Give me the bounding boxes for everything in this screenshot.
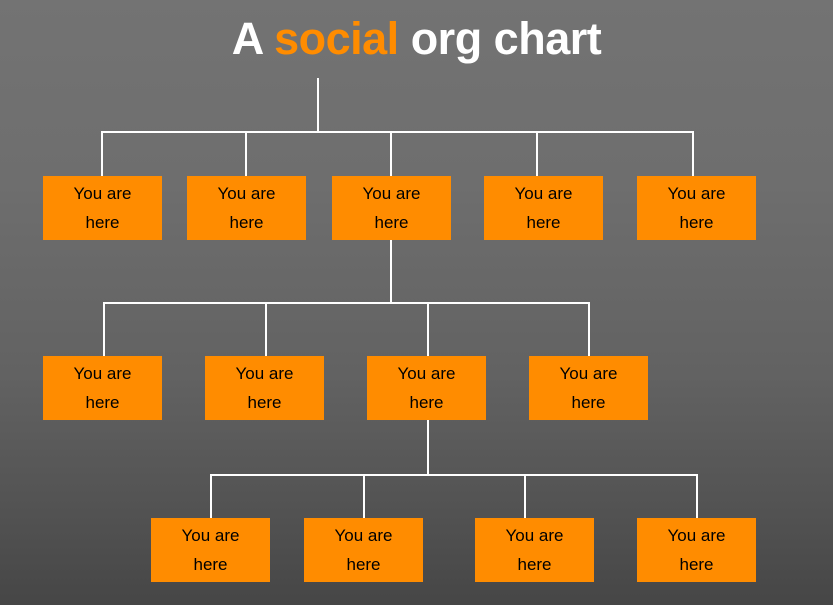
org-node[interactable]: You are here [475, 518, 594, 582]
org-node-label: You are here [151, 521, 270, 579]
org-node-label: You are here [637, 521, 756, 579]
title-part-2: org chart [399, 13, 602, 64]
connector-drop-row2-3 [427, 302, 429, 357]
org-node[interactable]: You are here [484, 176, 603, 240]
connector-stem-row1-to-row2 [390, 240, 392, 303]
connector-bar-row2 [103, 302, 588, 304]
org-node-label: You are here [205, 359, 324, 417]
title-accent-word: social [274, 13, 399, 64]
connector-drop-row1-1 [101, 131, 103, 177]
connector-drop-row1-3 [390, 131, 392, 177]
org-node[interactable]: You are here [187, 176, 306, 240]
connector-drop-row3-4 [696, 474, 698, 519]
org-node-label: You are here [43, 179, 162, 237]
org-node-label: You are here [475, 521, 594, 579]
connector-drop-row2-1 [103, 302, 105, 357]
connector-drop-row2-4 [588, 302, 590, 357]
connector-title-stem [317, 78, 319, 132]
page-title: A social org chart [0, 10, 833, 68]
org-node[interactable]: You are here [151, 518, 270, 582]
org-node[interactable]: You are here [304, 518, 423, 582]
org-node-label: You are here [43, 359, 162, 417]
connector-drop-row1-4 [536, 131, 538, 177]
org-node[interactable]: You are here [43, 356, 162, 420]
connector-drop-row3-1 [210, 474, 212, 519]
org-node-label: You are here [484, 179, 603, 237]
connector-drop-row2-2 [265, 302, 267, 357]
org-node-label: You are here [637, 179, 756, 237]
connector-bar-row3 [210, 474, 697, 476]
org-node-label: You are here [304, 521, 423, 579]
connector-drop-row1-2 [245, 131, 247, 177]
connector-bar-row1 [101, 131, 694, 133]
title-part-1: A [232, 13, 274, 64]
org-node-label: You are here [187, 179, 306, 237]
org-node[interactable]: You are here [43, 176, 162, 240]
org-node[interactable]: You are here [637, 518, 756, 582]
connector-drop-row3-3 [524, 474, 526, 519]
org-chart-slide: A social org chart You are here You are … [0, 0, 833, 605]
org-node-label: You are here [332, 179, 451, 237]
org-node[interactable]: You are here [367, 356, 486, 420]
connector-stem-row2-to-row3 [427, 420, 429, 475]
connector-drop-row3-2 [363, 474, 365, 519]
org-node[interactable]: You are here [637, 176, 756, 240]
org-node-label: You are here [367, 359, 486, 417]
org-node[interactable]: You are here [332, 176, 451, 240]
connector-drop-row1-5 [692, 131, 694, 177]
org-node[interactable]: You are here [529, 356, 648, 420]
org-node[interactable]: You are here [205, 356, 324, 420]
org-node-label: You are here [529, 359, 648, 417]
